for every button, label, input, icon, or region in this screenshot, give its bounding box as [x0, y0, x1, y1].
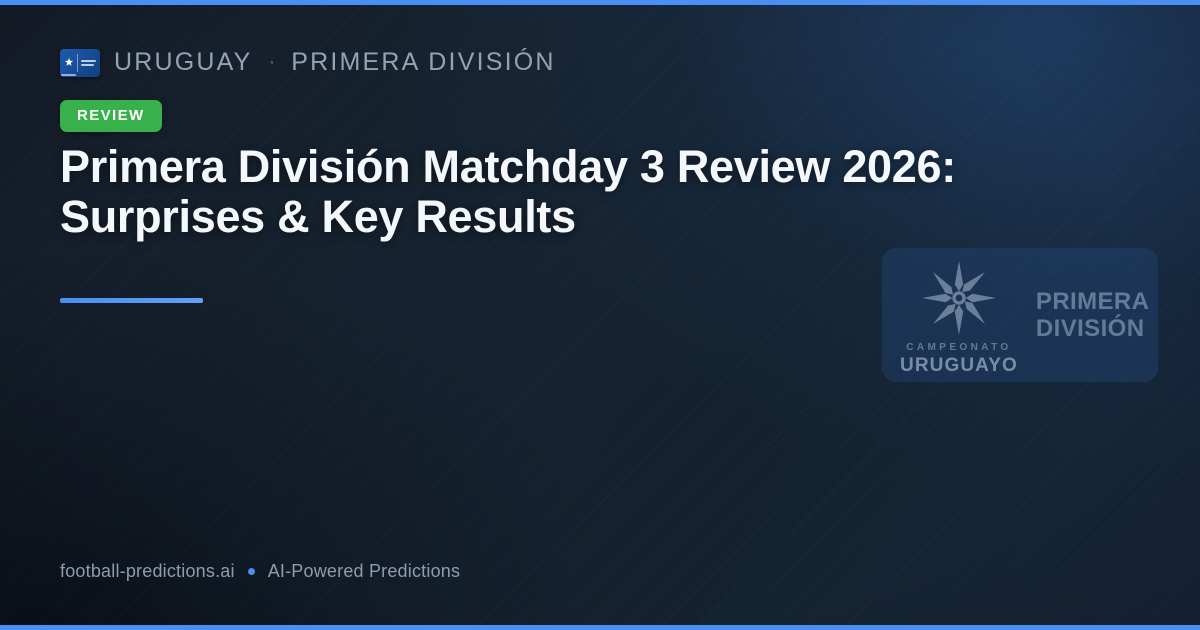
- status-badge: REVIEW: [60, 100, 162, 132]
- page-title: Primera División Matchday 3 Review 2026:…: [60, 142, 1060, 243]
- top-accent-bar: [0, 0, 1200, 5]
- watermark-emblem-block: CAMPEONATO URUGUAYO: [900, 256, 1018, 375]
- badge-star-glyph: [60, 49, 77, 77]
- league-shield-icon: [60, 49, 100, 77]
- campeonato-star-icon: [917, 256, 1001, 340]
- breadcrumb-separator-icon: ·: [267, 51, 278, 74]
- breadcrumb-country: URUGUAY: [114, 48, 253, 77]
- footer: football-predictions.ai AI-Powered Predi…: [60, 561, 460, 582]
- breadcrumb-league: PRIMERA DIVISIÓN: [291, 48, 555, 77]
- title-accent-rule: [60, 298, 203, 303]
- league-watermark-logo: CAMPEONATO URUGUAYO PRIMERA DIVISIÓN: [882, 248, 1158, 382]
- watermark-uruguayo-text: URUGUAYO: [900, 356, 1018, 375]
- watermark-league-name: PRIMERA DIVISIÓN: [1018, 288, 1149, 343]
- footer-tagline: AI-Powered Predictions: [268, 561, 461, 582]
- bullet-dot-icon: [248, 568, 255, 575]
- watermark-primera-text: PRIMERA: [1036, 288, 1149, 315]
- watermark-division-text: DIVISIÓN: [1036, 315, 1149, 342]
- bottom-accent-bar: [0, 625, 1200, 630]
- og-card: URUGUAY · PRIMERA DIVISIÓN REVIEW Primer…: [0, 0, 1200, 630]
- breadcrumb: URUGUAY · PRIMERA DIVISIÓN: [60, 48, 556, 77]
- watermark-campeonato-text: CAMPEONATO: [906, 343, 1011, 353]
- footer-site-name: football-predictions.ai: [60, 561, 235, 582]
- badge-wordmark: [78, 49, 100, 77]
